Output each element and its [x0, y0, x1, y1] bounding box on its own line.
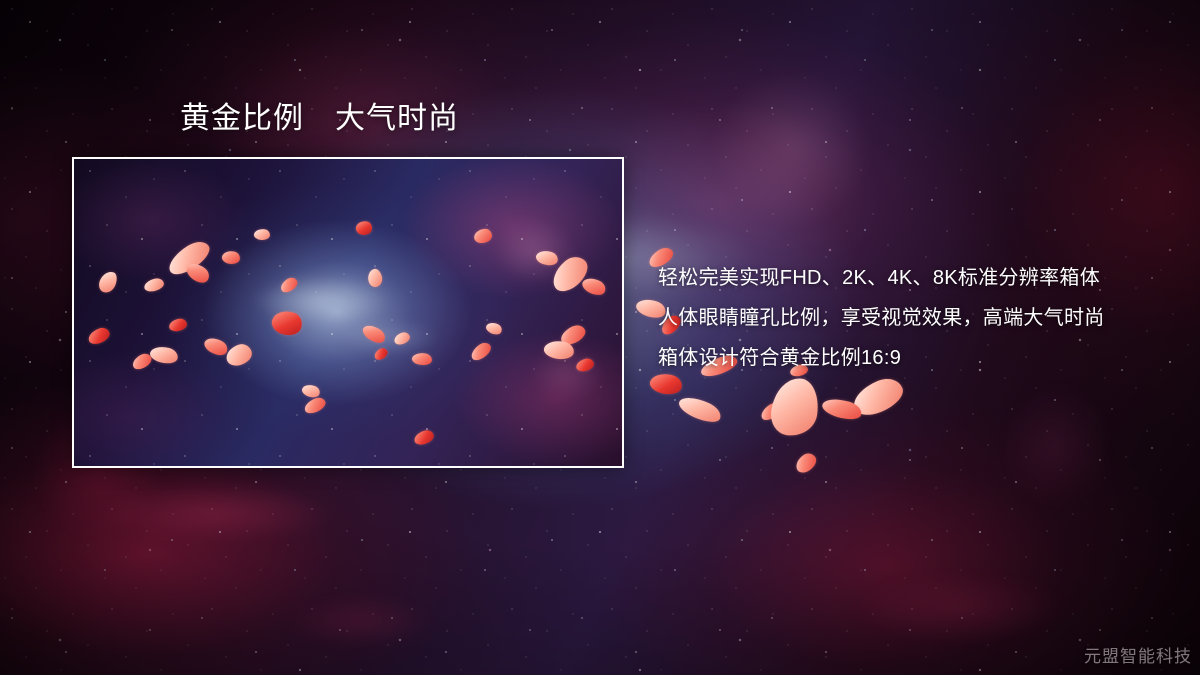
watermark: 元盟智能科技	[1084, 642, 1192, 667]
description-text-block: 轻松完美实现FHD、2K、4K、8K标准分辨率箱体 人体眼睛瞳孔比例，享受视觉效…	[658, 258, 1158, 378]
description-line-2: 人体眼睛瞳孔比例，享受视觉效果，高端大气时尚	[658, 298, 1158, 338]
photo-starfield	[74, 159, 622, 466]
petal	[792, 450, 819, 476]
description-line-1: 轻松完美实现FHD、2K、4K、8K标准分辨率箱体	[658, 258, 1158, 298]
petal	[676, 392, 724, 427]
page-title: 黄金比例 大气时尚	[180, 100, 459, 138]
galaxy-photo	[74, 159, 622, 466]
presentation-slide: 黄金比例 大气时尚	[0, 0, 1200, 675]
petal	[768, 375, 822, 439]
framed-image-panel	[72, 157, 624, 468]
description-line-3: 箱体设计符合黄金比例16:9	[658, 338, 1158, 378]
